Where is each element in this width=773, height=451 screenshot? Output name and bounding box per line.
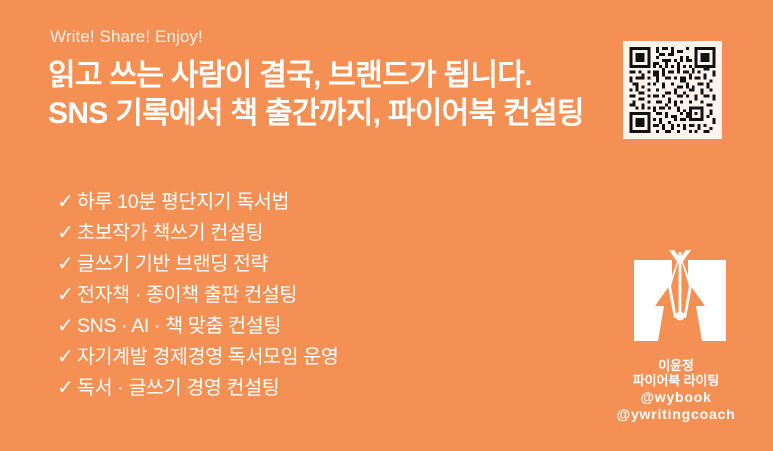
list-item: ✓ 초보작가 책쓰기 컨설팅 xyxy=(57,223,477,254)
list-item-label: 독서 · 글쓰기 경영 컨설팅 xyxy=(77,379,279,399)
check-icon: ✓ xyxy=(57,316,77,336)
list-item: ✓ 하루 10분 평단지기 독서법 xyxy=(57,192,477,223)
open-book-pen-nib-logo xyxy=(620,246,740,350)
check-icon: ✓ xyxy=(57,347,77,367)
brand-name: 파이어북 라이팅 xyxy=(580,373,772,389)
list-item-label: 전자책 · 종이책 출판 컨설팅 xyxy=(77,286,297,306)
list-item: ✓ SNS · AI · 책 맞춤 컨설팅 xyxy=(57,316,477,347)
list-item-label: 초보작가 책쓰기 컨설팅 xyxy=(77,224,263,244)
handle-secondary[interactable]: @ywritingcoach xyxy=(580,406,772,423)
tagline: Write! Share! Enjoy! xyxy=(50,27,203,47)
headline-line-2: SNS 기록에서 책 출간까지, 파이어북 컨설팅 xyxy=(48,95,628,133)
list-item-label: SNS · AI · 책 맞춤 컨설팅 xyxy=(77,317,281,337)
check-icon: ✓ xyxy=(57,192,77,212)
qr-code-modules xyxy=(629,47,716,133)
service-list: ✓ 하루 10분 평단지기 독서법 ✓ 초보작가 책쓰기 컨설팅 ✓ 글쓰기 기… xyxy=(57,192,477,409)
check-icon: ✓ xyxy=(57,254,77,274)
author-name: 이윤정 xyxy=(580,358,772,373)
list-item-label: 하루 10분 평단지기 독서법 xyxy=(77,193,289,213)
check-icon: ✓ xyxy=(57,378,77,398)
list-item: ✓ 글쓰기 기반 브랜딩 전략 xyxy=(57,254,477,285)
signature-block: 이윤정 파이어북 라이팅 @wybook @ywritingcoach xyxy=(580,358,772,423)
check-icon: ✓ xyxy=(57,285,77,305)
check-icon: ✓ xyxy=(57,223,77,243)
list-item-label: 글쓰기 기반 브랜딩 전략 xyxy=(77,255,268,275)
qr-code[interactable] xyxy=(623,41,722,139)
promo-card: Write! Share! Enjoy! 읽고 쓰는 사람이 결국, 브랜드가 … xyxy=(0,0,773,451)
headline: 읽고 쓰는 사람이 결국, 브랜드가 됩니다. SNS 기록에서 책 출간까지,… xyxy=(48,57,628,133)
list-item: ✓ 전자책 · 종이책 출판 컨설팅 xyxy=(57,285,477,316)
list-item: ✓ 독서 · 글쓰기 경영 컨설팅 xyxy=(57,378,477,409)
list-item: ✓ 자기계발 경제경영 독서모임 운영 xyxy=(57,347,477,378)
headline-line-1: 읽고 쓰는 사람이 결국, 브랜드가 됩니다. xyxy=(48,57,628,95)
handle-primary[interactable]: @wybook xyxy=(580,389,772,406)
list-item-label: 자기계발 경제경영 독서모임 운영 xyxy=(77,348,338,368)
